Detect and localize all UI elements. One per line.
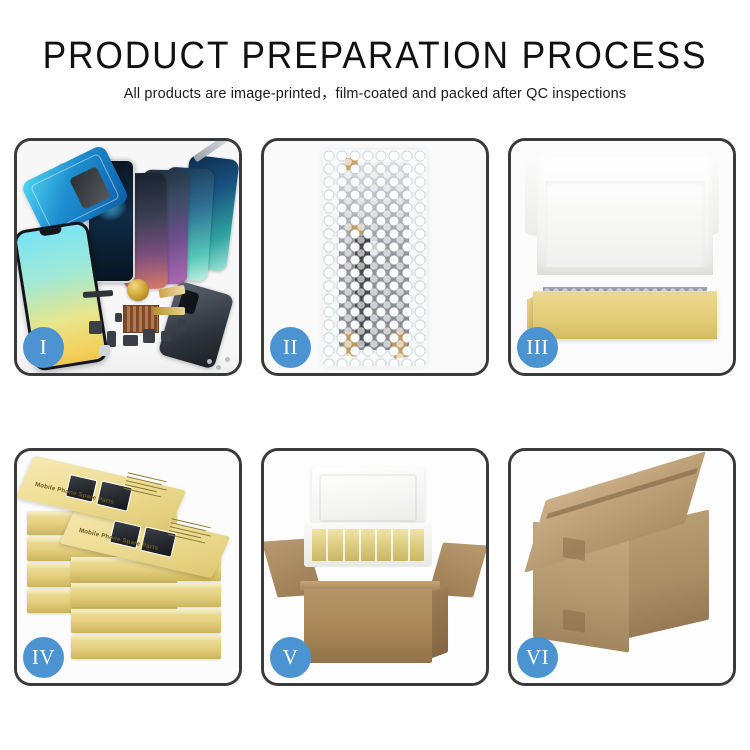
flex-cable-part-2 [158, 285, 185, 298]
packed-retail-boxes [312, 529, 424, 561]
small-component-4 [143, 329, 155, 343]
product-preparation-infographic: PRODUCT PREPARATION PROCESS All products… [0, 0, 750, 750]
process-step-panel-4: Mobile Phone Spare Parts Mobile Phone Sp… [14, 448, 242, 686]
carton-tab-upper [563, 537, 585, 560]
page-subtitle: All products are image-printed，film-coat… [4, 85, 747, 104]
process-step-grid: I II [14, 138, 736, 686]
flex-cable-part-3 [153, 307, 185, 315]
packed-box-4 [361, 529, 375, 561]
page-title: PRODUCT PREPARATION PROCESS [26, 34, 724, 78]
foam-lid [312, 467, 424, 529]
packed-box-5 [377, 529, 391, 561]
step-badge-5: V [270, 637, 311, 678]
process-step-panel-5: V [261, 448, 489, 686]
carton-tab-lower [563, 609, 585, 632]
small-component-3 [123, 335, 138, 346]
flex-cable-part-1 [83, 290, 113, 298]
step-badge-4: IV [23, 637, 64, 678]
stacked-box-front-3 [71, 609, 221, 633]
header: PRODUCT PREPARATION PROCESS All products… [0, 34, 750, 104]
small-component-5 [161, 331, 171, 341]
box-lid-inner-face [545, 181, 705, 267]
step-badge-3: III [517, 327, 558, 368]
bubble-wrapped-package [323, 150, 427, 366]
step-badge-2: II [270, 327, 311, 368]
process-step-panel-3: III [508, 138, 736, 376]
carton-front-face [304, 589, 432, 663]
small-component-1 [89, 321, 102, 334]
packed-box-3 [345, 529, 359, 561]
speaker-coil-part [127, 279, 149, 301]
step-badge-1: I [23, 327, 64, 368]
step-badge-6: VI [517, 637, 558, 678]
retail-box-stack: Mobile Phone Spare Parts Mobile Phone Sp… [25, 465, 231, 671]
packed-box-7 [410, 529, 424, 561]
process-step-panel-2: II [261, 138, 489, 376]
stacked-box-front-4 [71, 635, 221, 659]
packed-box-1 [312, 529, 326, 561]
process-step-panel-1: I [14, 138, 242, 376]
stacked-box-front-2 [71, 583, 221, 607]
small-component-7 [177, 319, 186, 332]
bubble-wrap-texture-overlay [323, 150, 427, 366]
process-step-panel-6: VI [508, 448, 736, 686]
yellow-inner-box [533, 293, 717, 339]
small-component-8 [115, 313, 122, 322]
packed-box-2 [328, 529, 342, 561]
packed-box-6 [393, 529, 407, 561]
